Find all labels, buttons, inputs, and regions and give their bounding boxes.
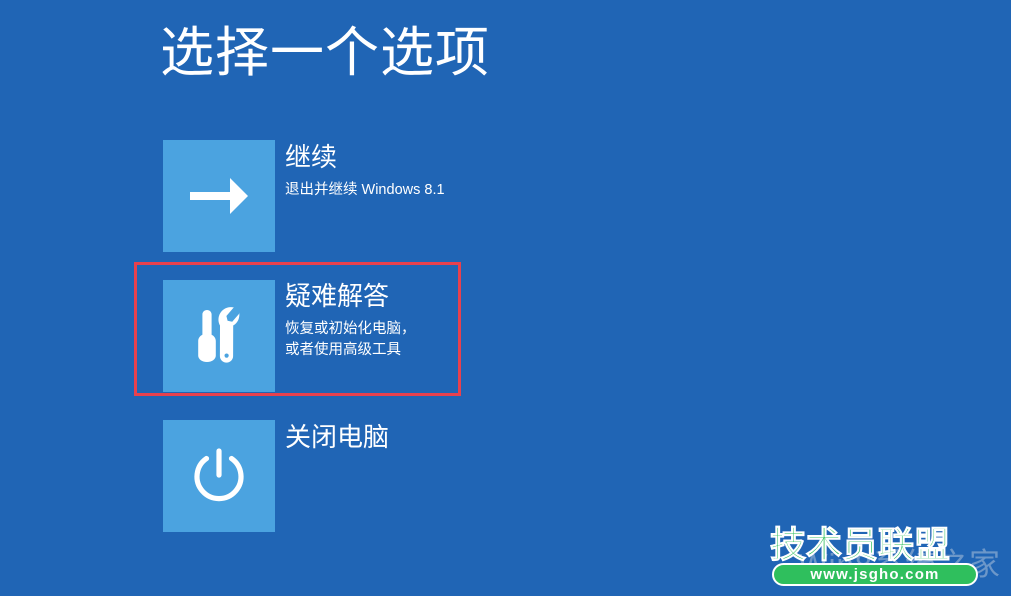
- option-troubleshoot[interactable]: 疑难解答 恢复或初始化电脑， 或者使用高级工具: [163, 280, 583, 392]
- site-watermark-brand: 技术员联盟: [770, 527, 950, 563]
- option-turn-off-pc-tile[interactable]: [163, 420, 275, 532]
- option-continue-text: 继续 退出并继续 Windows 8.1: [285, 142, 575, 201]
- power-icon: [188, 445, 250, 507]
- option-troubleshoot-tile[interactable]: [163, 280, 275, 392]
- option-turn-off-pc[interactable]: 关闭电脑: [163, 420, 583, 532]
- site-watermark-url-pill: www.jsgho.com: [772, 563, 978, 586]
- option-turn-off-pc-text: 关闭电脑: [285, 422, 575, 453]
- option-continue-subtitle: 退出并继续 Windows 8.1: [285, 180, 575, 201]
- options-list: 继续 退出并继续 Windows 8.1 疑难解答 恢: [0, 0, 1011, 596]
- recovery-options-screen: 选择一个选项 继续 退出并继续 Windows 8.1: [0, 0, 1011, 596]
- screwdriver-wrench-icon: [187, 304, 251, 368]
- option-troubleshoot-subtitle: 恢复或初始化电脑， 或者使用高级工具: [285, 319, 575, 360]
- option-troubleshoot-title: 疑难解答: [285, 281, 575, 312]
- site-watermark-url: www.jsgho.com: [810, 567, 939, 582]
- option-troubleshoot-text: 疑难解答 恢复或初始化电脑， 或者使用高级工具: [285, 281, 575, 360]
- option-continue-title: 继续: [285, 142, 575, 173]
- option-continue-tile[interactable]: [163, 140, 275, 252]
- arrow-right-icon: [188, 172, 250, 220]
- option-continue[interactable]: 继续 退出并继续 Windows 8.1: [163, 140, 583, 252]
- site-watermark: 技术员联盟 www.jsgho.com: [770, 527, 986, 589]
- option-turn-off-pc-title: 关闭电脑: [285, 422, 575, 453]
